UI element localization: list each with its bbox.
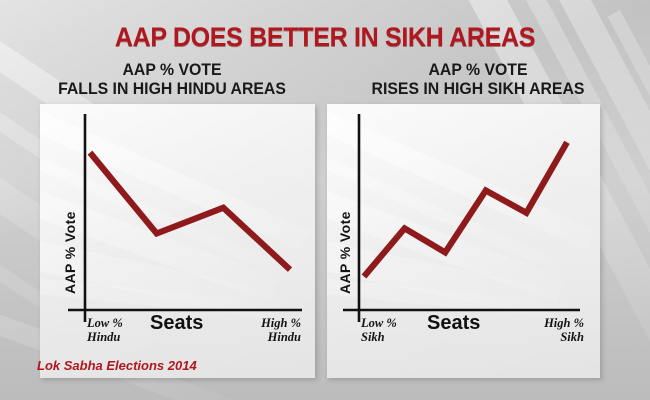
- x-axis-label-hindu: Seats: [150, 312, 203, 335]
- main-title: AAP DOES BETTER IN SIKH AREAS: [23, 22, 628, 53]
- x-tick-low-hindu-line1: Low %: [87, 316, 123, 330]
- x-tick-high-sikh-line1: High %: [544, 316, 584, 330]
- y-axis-label-sikh: AAP % Vote: [337, 211, 353, 294]
- chart-subtitle-right: AAP % VOTE RISES IN HIGH SIKH AREAS: [339, 60, 618, 98]
- x-tick-high-sikh: High % Sikh: [544, 316, 584, 344]
- trend-line-hindu: [90, 153, 290, 270]
- background-streak: [608, 10, 650, 308]
- x-tick-high-hindu-line1: High %: [261, 316, 301, 330]
- x-tick-low-sikh-line2: Sikh: [361, 330, 397, 344]
- y-axis-label-hindu: AAP % Vote: [62, 211, 78, 294]
- x-tick-high-hindu-line2: Hindu: [261, 330, 301, 344]
- x-tick-high-hindu: High % Hindu: [261, 316, 301, 344]
- trend-line-sikh: [364, 142, 567, 276]
- infographic-canvas: AAP DOES BETTER IN SIKH AREAS AAP % VOTE…: [0, 0, 650, 400]
- chart-panel-sikh: AAP % Vote Low % Sikh Seats High % Sikh: [327, 104, 600, 378]
- chart-subtitle-right-line1: AAP % VOTE: [339, 60, 618, 79]
- x-tick-low-sikh-line1: Low %: [361, 316, 397, 330]
- chart-subtitle-left: AAP % VOTE FALLS IN HIGH HINDU AREAS: [33, 60, 312, 98]
- x-axis-label-sikh: Seats: [427, 312, 480, 335]
- chart-panel-hindu: AAP % Vote Low % Hindu Seats High % Hind…: [40, 104, 315, 378]
- x-tick-low-hindu-line2: Hindu: [87, 330, 123, 344]
- x-tick-low-sikh: Low % Sikh: [361, 316, 397, 344]
- source-note: Lok Sabha Elections 2014: [37, 358, 197, 373]
- x-tick-high-sikh-line2: Sikh: [544, 330, 584, 344]
- x-tick-low-hindu: Low % Hindu: [87, 316, 123, 344]
- chart-subtitle-left-line2: FALLS IN HIGH HINDU AREAS: [33, 79, 312, 98]
- chart-subtitle-left-line1: AAP % VOTE: [33, 60, 312, 79]
- chart-subtitle-right-line2: RISES IN HIGH SIKH AREAS: [339, 79, 618, 98]
